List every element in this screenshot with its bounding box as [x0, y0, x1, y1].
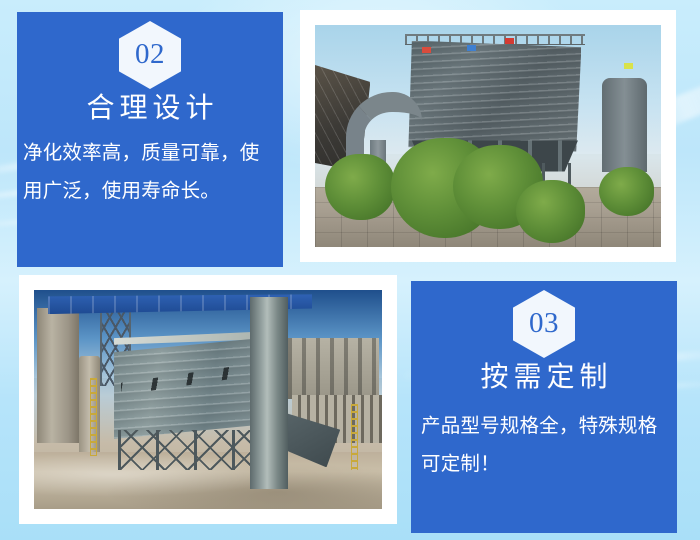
card-body-text: 产品型号规格全，特殊规格可定制！ — [411, 393, 677, 483]
photo-tree — [516, 180, 585, 242]
card-surface: 02 合理设计 净化效率高，质量可靠，使用广泛，使用寿命长。 — [17, 12, 283, 267]
industrial-dust-collector-photo — [315, 25, 661, 247]
badge-row: 02 — [17, 12, 283, 89]
badge-number: 03 — [529, 309, 559, 340]
photo-support-legs — [118, 430, 257, 469]
photo-frame — [300, 10, 676, 262]
baghouse-dust-collector-photo — [34, 290, 382, 509]
photo-chimney-stack — [250, 297, 288, 490]
card-surface: 03 按需定制 产品型号规格全，特殊规格可定制！ — [411, 281, 677, 533]
photo-silo — [37, 308, 79, 444]
photo-ladder — [351, 404, 358, 470]
photo-ladder — [90, 378, 97, 457]
feature-card-02[interactable]: 02 合理设计 净化效率高，质量可靠，使用广泛，使用寿命长。 — [17, 12, 283, 267]
card-title: 合理设计 — [17, 93, 283, 124]
badge-row: 03 — [411, 281, 677, 358]
photo-card-dust-collector[interactable] — [300, 10, 676, 262]
card-body-text: 净化效率高，质量可靠，使用广泛，使用寿命长。 — [17, 124, 283, 210]
photo-tree — [599, 167, 654, 216]
card-title: 按需定制 — [411, 362, 677, 393]
photo-building — [288, 338, 378, 399]
photo-flag — [467, 45, 476, 51]
hexagon-badge-icon: 03 — [513, 290, 575, 358]
photo-collector-body — [408, 41, 581, 152]
feature-card-03[interactable]: 03 按需定制 产品型号规格全，特殊规格可定制！ — [411, 281, 677, 533]
photo-frame — [19, 275, 397, 524]
photo-flag — [422, 47, 431, 53]
badge-number: 02 — [135, 40, 165, 71]
photo-silo-tower — [602, 78, 647, 171]
photo-flag — [624, 63, 633, 69]
photo-tree — [325, 154, 394, 221]
photo-flag — [505, 38, 514, 44]
hexagon-badge-icon: 02 — [119, 21, 181, 89]
photo-card-baghouse[interactable] — [19, 275, 397, 524]
